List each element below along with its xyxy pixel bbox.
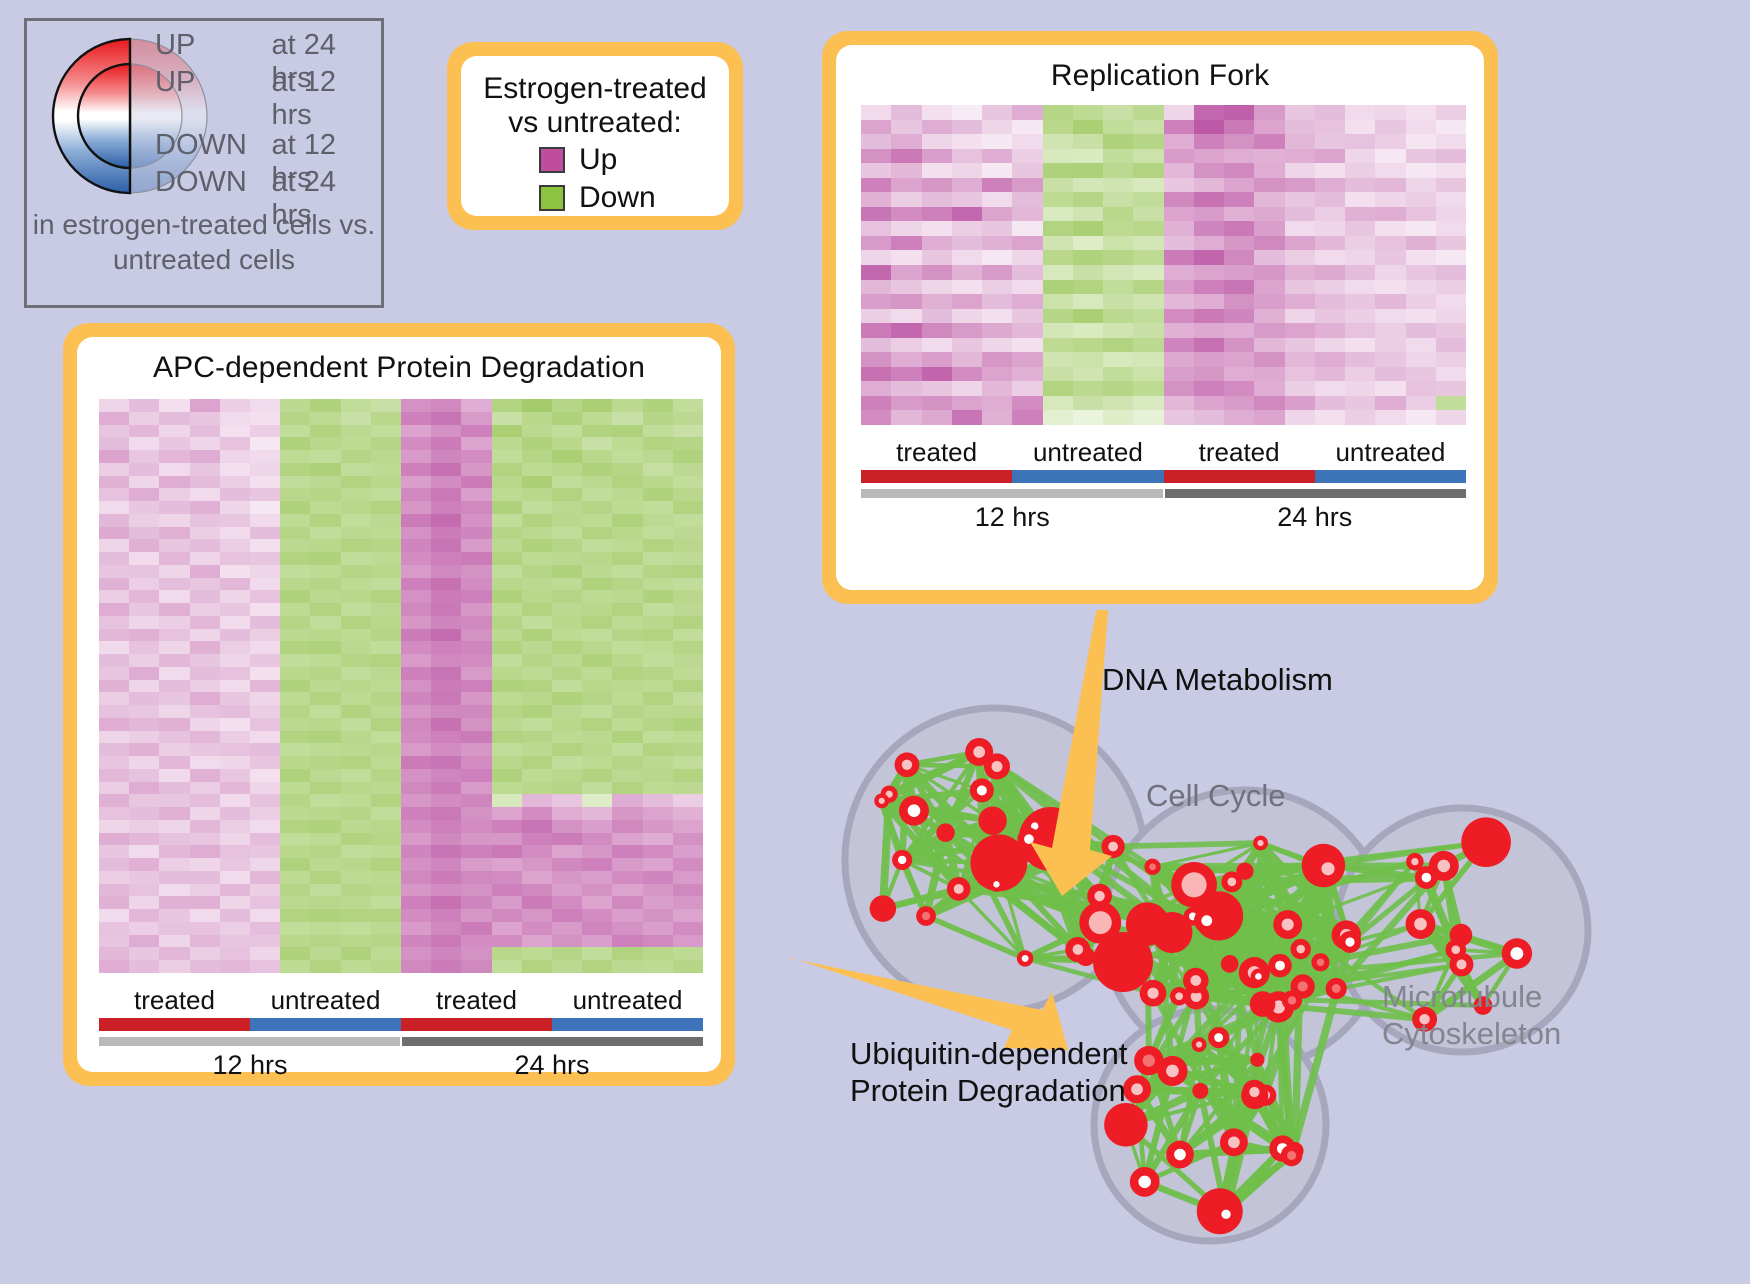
heatmap-cell (861, 149, 891, 164)
network-node[interactable] (1251, 969, 1267, 985)
network-node[interactable] (1236, 862, 1253, 879)
heatmap-cell (1224, 236, 1254, 251)
heatmap-cell (522, 705, 552, 718)
heatmap-cell (310, 412, 340, 425)
heatmap-cell (643, 807, 673, 820)
heatmap-cell (1133, 105, 1163, 120)
heatmap-cell (310, 603, 340, 616)
network-node[interactable] (1406, 909, 1436, 939)
heatmap-cell (310, 501, 340, 514)
heatmap-cell (673, 514, 703, 527)
network-node[interactable] (970, 778, 994, 802)
heatmap-cell (220, 578, 250, 591)
heatmap-cell (250, 412, 280, 425)
heatmap-cell (250, 947, 280, 960)
heatmap-cell (99, 616, 129, 629)
heatmap-cell (401, 552, 431, 565)
heatmap-cell (952, 367, 982, 382)
heatmap-cell (1012, 236, 1042, 251)
network-node[interactable] (1192, 1037, 1207, 1052)
heatmap-cell (371, 896, 401, 909)
node-outer-ring (1461, 817, 1511, 867)
network-node[interactable] (976, 870, 992, 886)
heatmap-cell (1254, 352, 1284, 367)
heatmap-cell (159, 845, 189, 858)
heatmap-cell (492, 820, 522, 833)
heatmap-cell (982, 323, 1012, 338)
network-node[interactable] (1273, 910, 1302, 939)
network-node[interactable] (916, 906, 936, 926)
heatmap-cell (431, 705, 461, 718)
heatmap-cell (401, 820, 431, 833)
heatmap-cell (552, 667, 582, 680)
heatmap-cell (1315, 367, 1345, 382)
group-label: untreated (552, 985, 703, 1016)
heatmap-cell (371, 743, 401, 756)
heatmap-cell (582, 514, 612, 527)
heatmap-cell (461, 399, 491, 412)
heatmap-cell (552, 820, 582, 833)
heatmap-cell (582, 794, 612, 807)
network-node[interactable] (936, 823, 955, 842)
heatmap-cell (1436, 381, 1466, 396)
heatmap-cell (1436, 352, 1466, 367)
network-node[interactable] (1502, 938, 1532, 968)
heatmap-cell (341, 539, 371, 552)
heatmap-cell (582, 501, 612, 514)
heatmap-cell (461, 514, 491, 527)
network-node[interactable] (1339, 931, 1361, 953)
heatmap-cell (371, 603, 401, 616)
network-node[interactable] (1250, 1053, 1264, 1067)
heatmap-cell (310, 756, 340, 769)
heatmap-cell (1164, 134, 1194, 149)
heatmap-cell (461, 705, 491, 718)
heatmap-cell (612, 590, 642, 603)
network-node[interactable] (1221, 955, 1239, 973)
heatmap-cell (310, 552, 340, 565)
heatmap-cell (280, 947, 310, 960)
heatmap-cell (922, 149, 952, 164)
heatmap-cell (492, 718, 522, 731)
heatmap-cell (220, 845, 250, 858)
heatmap-cell (250, 425, 280, 438)
heatmap-cell (582, 820, 612, 833)
heatmap-cell (582, 947, 612, 960)
heatmap-cell (129, 412, 159, 425)
node-core (1143, 1054, 1155, 1066)
heatmap-cell (552, 527, 582, 540)
network-node[interactable] (1268, 954, 1291, 977)
heatmap-cell (341, 629, 371, 642)
heatmap-cell (1073, 163, 1103, 178)
heatmap-cell (159, 476, 189, 489)
heatmap-cell (612, 871, 642, 884)
heatmap-cell (341, 603, 371, 616)
heatmap-cell (982, 338, 1012, 353)
heatmap-cell (522, 960, 552, 973)
heatmap-cell (1073, 134, 1103, 149)
network-node[interactable] (1311, 953, 1329, 971)
network-node[interactable] (892, 850, 912, 870)
heatmap-cell (190, 590, 220, 603)
heatmap-cell (1133, 396, 1163, 411)
heatmap-cell (1436, 236, 1466, 251)
heatmap-cell (552, 437, 582, 450)
heatmap-cell (190, 909, 220, 922)
heatmap-cell (431, 590, 461, 603)
heatmap-cell (673, 425, 703, 438)
network-node[interactable] (1104, 1103, 1148, 1147)
heatmap-cell (982, 120, 1012, 135)
heatmap-cell (220, 756, 250, 769)
heatmap-cell (582, 756, 612, 769)
network-node[interactable] (1326, 978, 1347, 999)
network-node[interactable] (1144, 859, 1160, 875)
network-node[interactable] (1093, 932, 1153, 992)
heatmap-cell (371, 667, 401, 680)
heatmap-cell (280, 922, 310, 935)
network-node[interactable] (1215, 1203, 1237, 1225)
heatmap-cell (552, 654, 582, 667)
heatmap-cell (99, 590, 129, 603)
network-node[interactable] (1087, 884, 1112, 909)
node-core (1321, 862, 1334, 875)
heatmap-cell (220, 680, 250, 693)
network-node[interactable] (899, 796, 929, 826)
network-node[interactable] (1166, 1141, 1194, 1169)
heatmap-cell (1164, 236, 1194, 251)
heatmap-cell (99, 807, 129, 820)
heatmap-cell (431, 909, 461, 922)
heatmap-cell (99, 871, 129, 884)
network-node[interactable] (1130, 1167, 1160, 1197)
heatmap-cell (1164, 410, 1194, 425)
up-label: Up (579, 143, 617, 177)
heatmap-cell (129, 947, 159, 960)
heatmap-cell (1103, 207, 1133, 222)
heatmap-cell (492, 743, 522, 756)
heatmap-cell (492, 947, 522, 960)
heatmap-cell (341, 718, 371, 731)
heatmap-cell (1406, 280, 1436, 295)
heatmap-cell (522, 909, 552, 922)
network-node[interactable] (1406, 853, 1423, 870)
heatmap-cell (1315, 149, 1345, 164)
heatmap-cell (582, 450, 612, 463)
heatmap-cell (99, 476, 129, 489)
heatmap-cell (1436, 250, 1466, 265)
heatmap-cell (1194, 265, 1224, 280)
node-outer-ring (976, 870, 992, 886)
heatmap-cell (1224, 410, 1254, 425)
heatmap-cell (159, 922, 189, 935)
heatmap-cell (1285, 352, 1315, 367)
heatmap-cell (190, 680, 220, 693)
heatmap-cell (1103, 120, 1133, 135)
network-node[interactable] (965, 738, 993, 766)
heatmap-cell (99, 922, 129, 935)
heatmap-cell (1406, 294, 1436, 309)
heatmap-cell (1103, 367, 1133, 382)
heatmap-cell (371, 488, 401, 501)
heatmap-cell (643, 578, 673, 591)
network-node[interactable] (1065, 937, 1090, 962)
network-node[interactable] (1445, 939, 1466, 960)
heatmap-cell (431, 935, 461, 948)
heatmap-cell (643, 425, 673, 438)
heatmap-cell (952, 381, 982, 396)
heatmap-cell (922, 207, 952, 222)
heatmap-cell (250, 629, 280, 642)
node-core (993, 881, 999, 887)
heatmap-cell (280, 845, 310, 858)
heatmap-cell (891, 105, 921, 120)
heatmap-cell (371, 412, 401, 425)
heatmap-cell (1224, 120, 1254, 135)
heatmap-cell (431, 794, 461, 807)
network-node[interactable] (1017, 950, 1033, 966)
heatmap-cell (250, 718, 280, 731)
heatmap-cell (280, 616, 310, 629)
network-node[interactable] (1220, 1128, 1248, 1156)
heatmap-cell (220, 960, 250, 973)
heatmap-cell (1073, 207, 1103, 222)
heatmap-cell (1345, 280, 1375, 295)
heatmap-cell (1103, 178, 1133, 193)
heatmap-cell (341, 514, 371, 527)
heatmap-cell (861, 120, 891, 135)
heatmap-cell (552, 743, 582, 756)
network-node[interactable] (1242, 1080, 1266, 1104)
heatmap-cell (1436, 207, 1466, 222)
heatmap-cell (190, 412, 220, 425)
timepoint-labels: 12 hrs24 hrs (861, 502, 1466, 533)
heatmap-cell (1315, 294, 1345, 309)
heatmap-cell (250, 654, 280, 667)
heatmap-cell (431, 565, 461, 578)
heatmap-cell (371, 756, 401, 769)
heatmap-cell (861, 178, 891, 193)
heatmap-cell (582, 667, 612, 680)
heatmap-cell (673, 527, 703, 540)
heatmap-cell (461, 896, 491, 909)
network-node[interactable] (1192, 1083, 1208, 1099)
heatmap-cell (461, 680, 491, 693)
heatmap-cell (1345, 221, 1375, 236)
heatmap-cell (1043, 367, 1073, 382)
heatmap-cell (1406, 120, 1436, 135)
network-node[interactable] (1461, 817, 1511, 867)
heatmap-cell (190, 450, 220, 463)
heatmap-cell (861, 105, 891, 120)
heatmap-cell (673, 807, 703, 820)
heatmap-cell (401, 960, 431, 973)
heatmap-cell (952, 323, 982, 338)
heatmap-cell (461, 603, 491, 616)
heatmap-cell (1285, 192, 1315, 207)
heatmap-cell (492, 680, 522, 693)
heatmap-cell (1315, 338, 1345, 353)
heatmap-cell (1194, 294, 1224, 309)
heatmap-cell (1133, 309, 1163, 324)
heatmap-cell (99, 603, 129, 616)
heatmap-cell (522, 884, 552, 897)
heatmap-cell (280, 769, 310, 782)
heatmap-cell (99, 527, 129, 540)
heatmap-cell (492, 756, 522, 769)
heatmap-cell (341, 590, 371, 603)
node-core (973, 746, 985, 758)
heatmap-cell (371, 476, 401, 489)
heatmap-cell (129, 578, 159, 591)
heatmap-cell (1164, 338, 1194, 353)
heatmap-cell (612, 743, 642, 756)
heatmap-cell (1285, 309, 1315, 324)
heatmap-cell (371, 871, 401, 884)
heatmap-cell (1285, 381, 1315, 396)
heatmap-cell (99, 680, 129, 693)
heatmap-cell (552, 590, 582, 603)
heatmap-cell (280, 437, 310, 450)
heatmap-cell (99, 782, 129, 795)
key-direction-label: UP (155, 29, 271, 62)
heatmap-cell (1436, 294, 1466, 309)
heatmap-cell (673, 654, 703, 667)
network-node[interactable] (1208, 1027, 1229, 1048)
network-node[interactable] (947, 877, 971, 901)
heatmap-cell (280, 833, 310, 846)
network-node[interactable] (895, 752, 920, 777)
heatmap-cell (371, 680, 401, 693)
network-node[interactable] (1281, 1145, 1303, 1167)
heatmap-cell (1043, 149, 1073, 164)
heatmap-cell (492, 412, 522, 425)
heatmap-cell (552, 769, 582, 782)
heatmap-cell (371, 718, 401, 731)
network-node[interactable] (1253, 836, 1268, 851)
heatmap-cell (461, 412, 491, 425)
protein-interaction-network: DNA Metabolism Cell Cycle Microtubule Cy… (790, 610, 1750, 1279)
network-node[interactable] (1194, 908, 1220, 934)
heatmap-cell (159, 731, 189, 744)
heatmap-cell (159, 425, 189, 438)
heatmap-cell (461, 552, 491, 565)
network-node[interactable] (978, 806, 1006, 834)
heatmap-cell (1254, 381, 1284, 396)
heatmap-cell (582, 833, 612, 846)
heatmap-cell (1133, 163, 1163, 178)
heatmap-cell (401, 782, 431, 795)
heatmap-cell (582, 731, 612, 744)
network-node[interactable] (1429, 851, 1459, 881)
heatmap-cell (522, 399, 552, 412)
heatmap-cell (1133, 250, 1163, 265)
node-core (1147, 988, 1158, 999)
heatmap-cell (552, 782, 582, 795)
key-direction-label: DOWN (155, 129, 271, 162)
heatmap-cell (461, 871, 491, 884)
network-node[interactable] (1134, 1046, 1163, 1075)
network-node[interactable] (1140, 980, 1167, 1007)
heatmap-cell (492, 539, 522, 552)
heatmap-cell (341, 782, 371, 795)
heatmap-cell (341, 833, 371, 846)
heatmap-cell (952, 105, 982, 120)
heatmap-cell (220, 616, 250, 629)
heatmap-cell (220, 667, 250, 680)
heatmap-cell (582, 539, 612, 552)
heatmap-cell (220, 820, 250, 833)
heatmap-cell (522, 667, 552, 680)
heatmap-cell (310, 947, 340, 960)
heatmap-cell (129, 476, 159, 489)
heatmap-cell (1254, 250, 1284, 265)
heatmap-cell (310, 769, 340, 782)
network-node[interactable] (1183, 968, 1209, 994)
heatmap-cell (99, 769, 129, 782)
heatmap-cell (522, 539, 552, 552)
heatmap-cell (612, 820, 642, 833)
heatmap-cell (982, 352, 1012, 367)
heatmap-cell (310, 476, 340, 489)
replication-fork-title: Replication Fork (836, 45, 1484, 93)
heatmap-cell (129, 794, 159, 807)
network-node[interactable] (874, 793, 889, 808)
heatmap-cell (982, 410, 1012, 425)
heatmap-cell (310, 845, 340, 858)
network-node[interactable] (1291, 939, 1311, 959)
heatmap-cell (861, 367, 891, 382)
network-node[interactable] (870, 895, 896, 921)
heatmap-cell (1194, 236, 1224, 251)
heatmap-cell (159, 794, 189, 807)
heatmap-cell (159, 578, 189, 591)
heatmap-cell (1375, 221, 1405, 236)
heatmap-cell (1133, 294, 1163, 309)
heatmap-cell (190, 718, 220, 731)
heatmap-cell (552, 909, 582, 922)
group-color-bar (1315, 470, 1466, 483)
network-node[interactable] (1282, 990, 1302, 1010)
heatmap-cell (1043, 381, 1073, 396)
heatmap-cell (1224, 163, 1254, 178)
cluster-label-microtubule: Microtubule Cytoskeleton (1382, 978, 1561, 1052)
heatmap-cell (612, 667, 642, 680)
heatmap-cell (673, 909, 703, 922)
network-node[interactable] (1250, 991, 1276, 1017)
heatmap-cell (280, 527, 310, 540)
heatmap-cell (1345, 134, 1375, 149)
node-core (1022, 955, 1029, 962)
heatmap-cell (1224, 367, 1254, 382)
key-legend-footnote: in estrogen-treated cells vs. untreated … (27, 207, 381, 277)
heatmap-cell (190, 896, 220, 909)
node-core (922, 912, 930, 920)
heatmap-cell (673, 922, 703, 935)
heatmap-cell (341, 858, 371, 871)
network-node[interactable] (1312, 853, 1343, 884)
heatmap-cell (643, 488, 673, 501)
heatmap-cell (431, 667, 461, 680)
heatmap-cell (371, 578, 401, 591)
heatmap-cell (552, 476, 582, 489)
heatmap-cell (250, 667, 280, 680)
heatmap-cell (522, 412, 552, 425)
cluster-label-dna-metabolism: DNA Metabolism (1102, 662, 1333, 698)
heatmap-cell (1103, 221, 1133, 236)
heatmap-cell (220, 603, 250, 616)
